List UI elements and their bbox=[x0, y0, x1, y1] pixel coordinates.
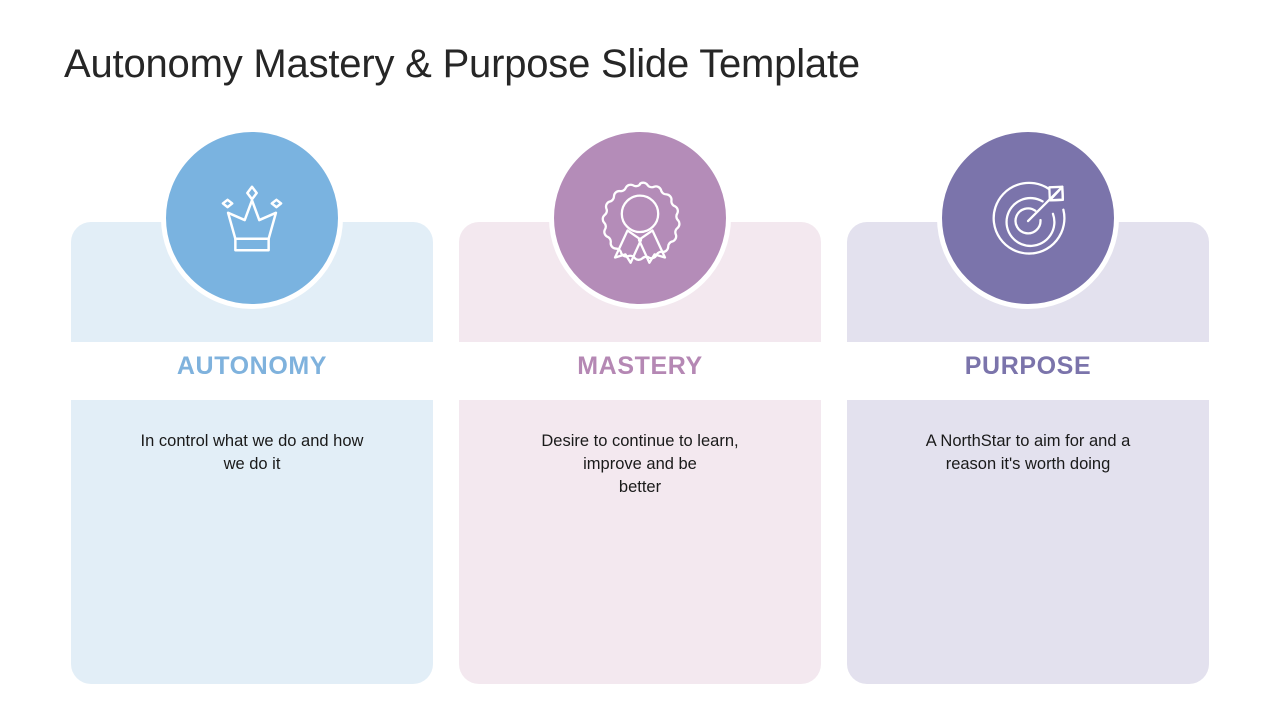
target-arrow-icon bbox=[976, 166, 1080, 270]
icon-circle-autonomy[interactable] bbox=[161, 127, 343, 309]
crown-icon bbox=[200, 166, 304, 270]
body-text-mastery: Desire to continue to learn, improve and… bbox=[490, 430, 790, 499]
slide-canvas: Autonomy Mastery & Purpose Slide Templat… bbox=[0, 0, 1280, 720]
column-autonomy[interactable]: AUTONOMY In control what we do and how w… bbox=[71, 222, 433, 684]
award-rosette-icon bbox=[588, 166, 692, 270]
body-text-purpose: A NorthStar to aim for and a reason it's… bbox=[878, 430, 1178, 476]
icon-circle-purpose[interactable] bbox=[937, 127, 1119, 309]
body-text-autonomy: In control what we do and how we do it bbox=[102, 430, 402, 476]
icon-circle-mastery[interactable] bbox=[549, 127, 731, 309]
page-title: Autonomy Mastery & Purpose Slide Templat… bbox=[64, 42, 860, 87]
column-mastery[interactable]: MASTERY Desire to continue to learn, imp… bbox=[459, 222, 821, 684]
label-autonomy: AUTONOMY bbox=[71, 352, 433, 381]
label-purpose: PURPOSE bbox=[847, 352, 1209, 381]
label-mastery: MASTERY bbox=[459, 352, 821, 381]
column-purpose[interactable]: PURPOSE A NorthStar to aim for and a rea… bbox=[847, 222, 1209, 684]
columns-container: AUTONOMY In control what we do and how w… bbox=[71, 222, 1209, 684]
